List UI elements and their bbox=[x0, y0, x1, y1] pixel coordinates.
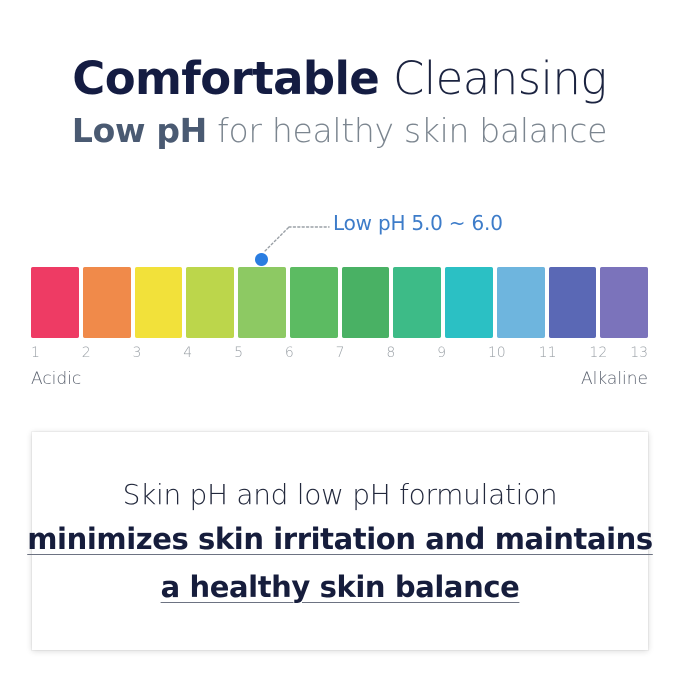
ph-scale: Low pH 5.0 ~ 6.0 12345678910111213 Acidi… bbox=[31, 205, 648, 390]
ph-tick-11: 11 bbox=[539, 343, 586, 363]
ph-acidic-label: Acidic bbox=[31, 367, 81, 391]
page-title-emphasis: Comfortable bbox=[72, 52, 379, 105]
page-title: Comfortable Cleansing bbox=[0, 50, 679, 107]
page-subtitle-rest: for healthy skin balance bbox=[207, 111, 607, 150]
ph-tick-labels: 12345678910111213 bbox=[31, 343, 648, 363]
ph-swatch-12 bbox=[600, 267, 648, 338]
page-subtitle: Low pH for healthy skin balance bbox=[0, 109, 679, 153]
ph-end-labels: Acidic Alkaline bbox=[31, 367, 648, 391]
ph-tick-7: 7 bbox=[336, 343, 383, 363]
ph-tick-2: 2 bbox=[82, 343, 129, 363]
claim-line-2: minimizes skin irritation and maintains bbox=[27, 518, 653, 560]
ph-tick-9: 9 bbox=[437, 343, 484, 363]
ph-tick-4: 4 bbox=[183, 343, 230, 363]
ph-callout-marker-dot bbox=[255, 253, 268, 266]
ph-tick-6: 6 bbox=[285, 343, 332, 363]
ph-swatch-6 bbox=[290, 267, 338, 338]
ph-swatch-11 bbox=[549, 267, 597, 338]
ph-swatch-7 bbox=[342, 267, 390, 338]
ph-tick-13: 13 bbox=[630, 343, 648, 363]
ph-swatch-10 bbox=[497, 267, 545, 338]
ph-swatch-2 bbox=[83, 267, 131, 338]
ph-tick-10: 10 bbox=[488, 343, 535, 363]
ph-tick-3: 3 bbox=[133, 343, 180, 363]
claim-line-3: a healthy skin balance bbox=[161, 566, 520, 608]
ph-callout: Low pH 5.0 ~ 6.0 bbox=[31, 205, 648, 267]
ph-swatch-9 bbox=[445, 267, 493, 338]
ph-alkaline-label: Alkaline bbox=[581, 367, 648, 391]
page-subtitle-emphasis: Low pH bbox=[72, 111, 207, 150]
ph-swatch-8 bbox=[393, 267, 441, 338]
page-heading: Comfortable Cleansing Low pH for healthy… bbox=[0, 50, 679, 153]
callout-leader-line-icon bbox=[31, 205, 648, 267]
ph-swatch-3 bbox=[135, 267, 183, 338]
page-title-rest: Cleansing bbox=[379, 52, 606, 105]
claim-line-1: Skin pH and low pH formulation bbox=[123, 475, 558, 515]
ph-tick-5: 5 bbox=[234, 343, 281, 363]
ph-swatch-1 bbox=[31, 267, 79, 338]
ph-tick-1: 1 bbox=[31, 343, 78, 363]
ph-swatch-4 bbox=[186, 267, 234, 338]
ph-color-swatches bbox=[31, 267, 648, 338]
ph-tick-12: 12 bbox=[589, 343, 636, 363]
ph-callout-label: Low pH 5.0 ~ 6.0 bbox=[333, 211, 503, 235]
ph-tick-8: 8 bbox=[386, 343, 433, 363]
ph-swatch-5 bbox=[238, 267, 286, 338]
claim-card: Skin pH and low pH formulation minimizes… bbox=[32, 432, 648, 650]
